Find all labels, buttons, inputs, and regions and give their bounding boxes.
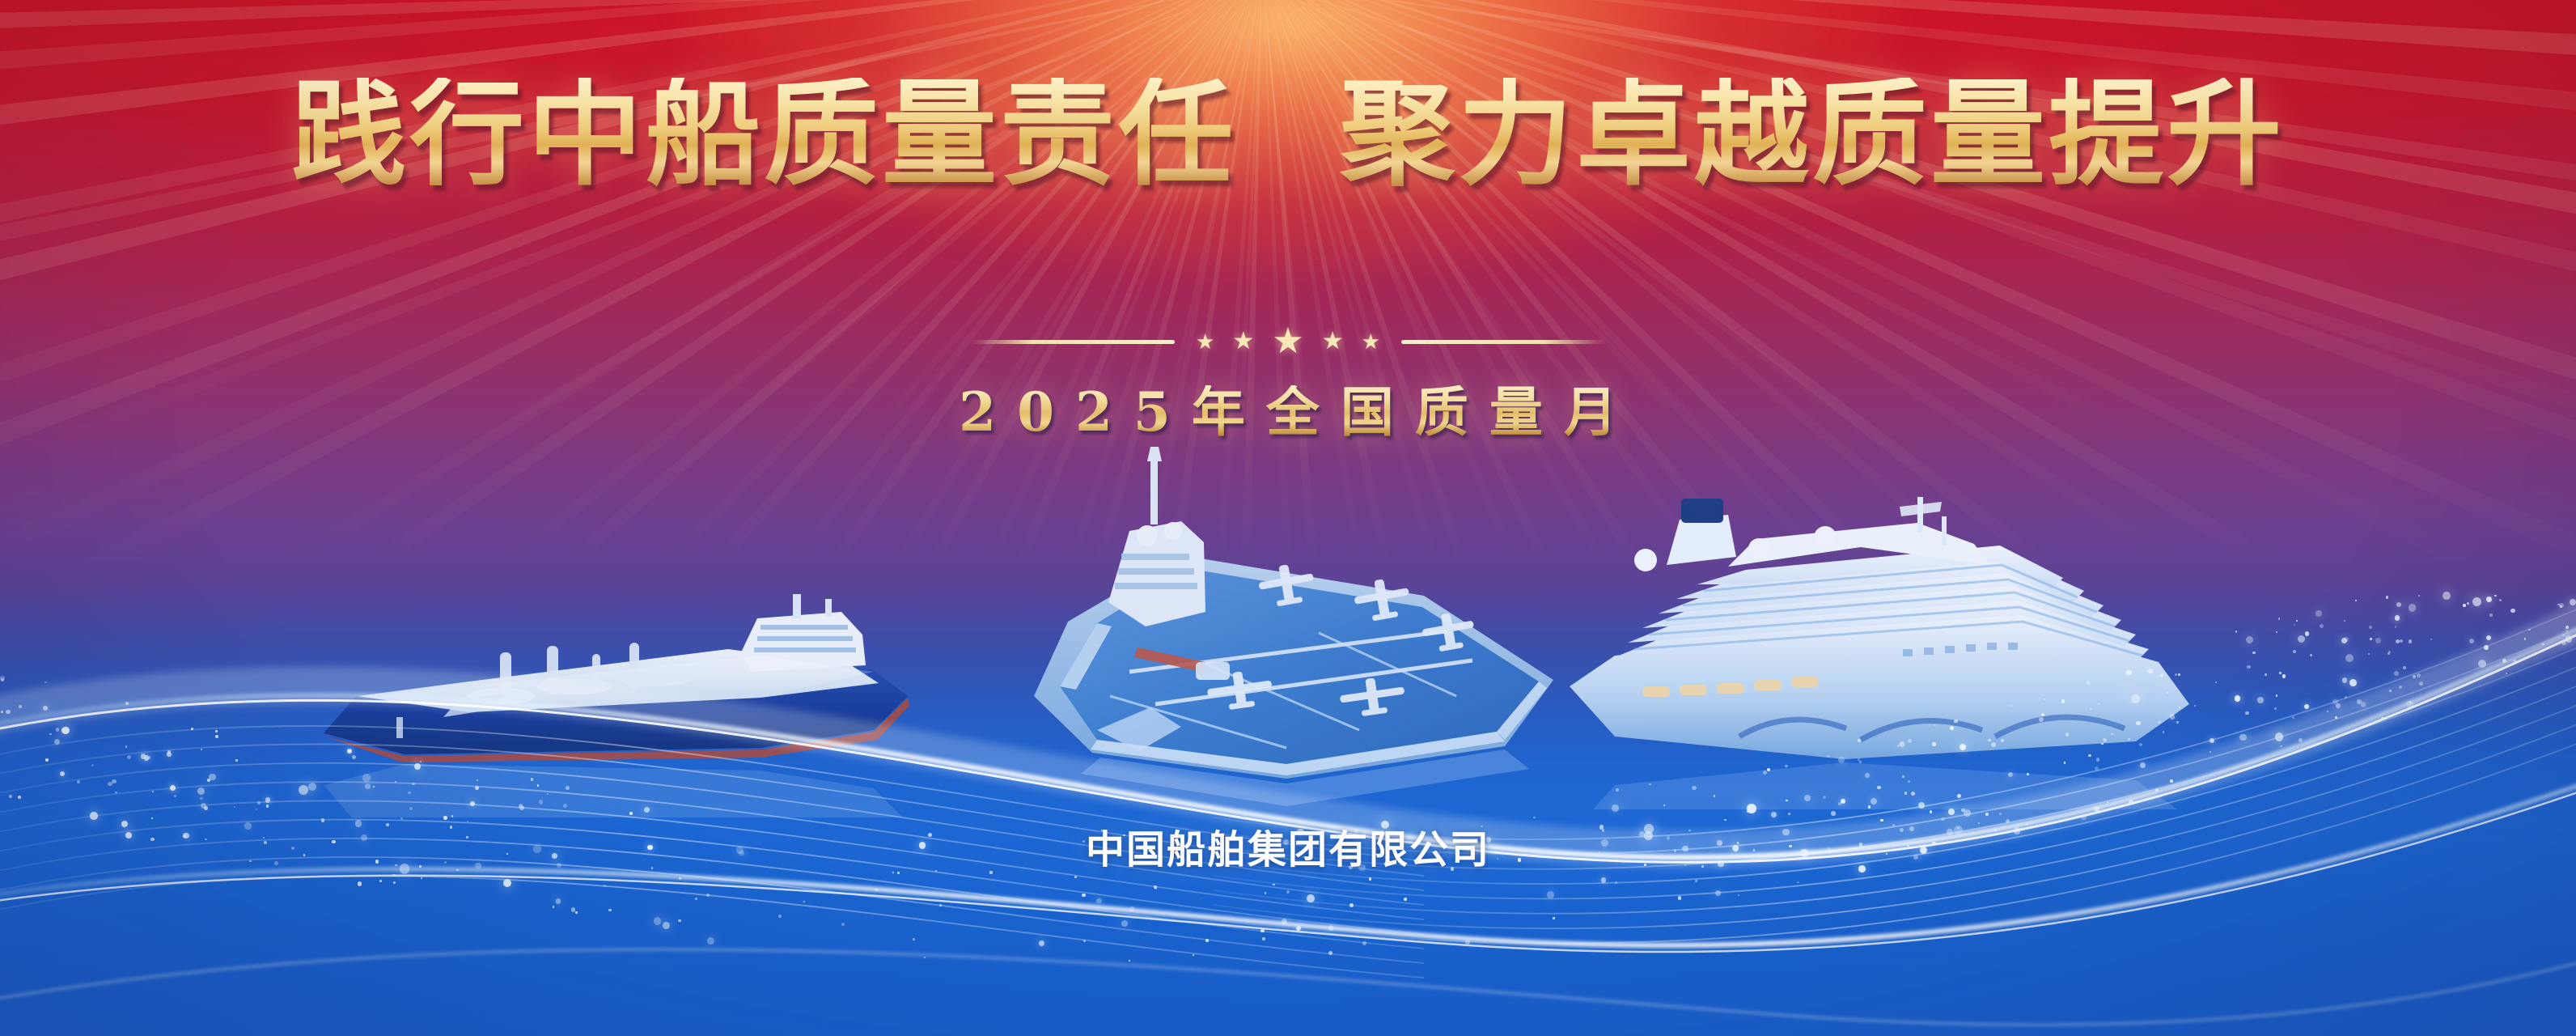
light-ribbons-icon xyxy=(0,518,2576,1036)
divider-stars: ★ ★ ★ ★ ★ xyxy=(1196,324,1380,359)
company-name: 中国船舶集团有限公司 xyxy=(0,830,2576,869)
headline-part-1: 践行中船质量责任 xyxy=(291,78,1236,193)
divider-line-right xyxy=(1401,340,1605,344)
page-title: 践行中船质量责任聚力卓越质量提升 xyxy=(0,78,2576,193)
divider-line-left xyxy=(971,340,1175,344)
star-icon-5: ★ xyxy=(1362,331,1380,352)
cruise-ship-icon xyxy=(1537,469,2249,809)
divider: ★ ★ ★ ★ ★ xyxy=(971,324,1605,359)
page-subtitle: 2025年全国质量月 xyxy=(0,385,2576,439)
star-icon-1: ★ xyxy=(1196,331,1214,352)
lng-carrier-ship-icon xyxy=(307,575,955,817)
star-icon-4: ★ xyxy=(1322,329,1344,354)
light-particles-icon xyxy=(0,583,2576,1036)
star-icon-3: ★ xyxy=(1272,324,1303,359)
ocean-gradient xyxy=(0,583,2576,1036)
star-icon-2: ★ xyxy=(1232,329,1254,354)
aircraft-carrier-ship-icon xyxy=(938,429,1602,834)
ship-group xyxy=(0,421,2576,809)
quality-month-banner: 践行中船质量责任聚力卓越质量提升 ★ ★ ★ ★ ★ 2025年全国质量月 中国… xyxy=(0,0,2576,1036)
headline-part-2: 聚力卓越质量提升 xyxy=(1340,78,2285,193)
